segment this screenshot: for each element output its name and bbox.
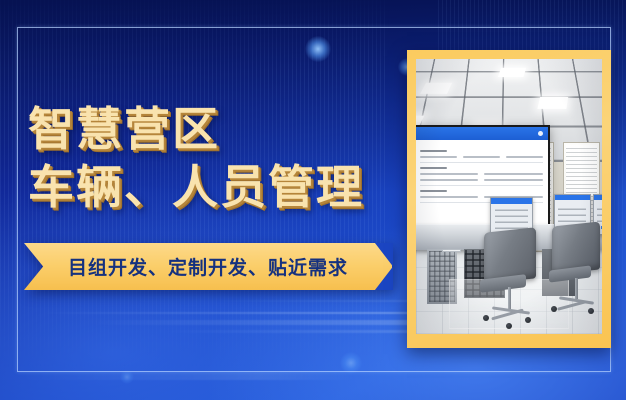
screen-section-title [420, 167, 447, 169]
screen-field [484, 179, 542, 181]
chair-wheel [588, 308, 594, 314]
ribbon-label: 目组开发、定制开发、贴近需求 [24, 243, 392, 290]
screen-field [463, 156, 500, 158]
chair-wheel [506, 323, 512, 329]
screen-form-section [420, 146, 543, 163]
screen-field-row [420, 154, 543, 160]
screen-field [506, 156, 543, 158]
glow-dot-icon [340, 352, 362, 374]
glow-dot-icon [305, 36, 331, 62]
promo-banner: 智慧营区 车辆、人员管理 目组开发、定制开发、贴近需求 [0, 0, 626, 400]
screen-field [484, 173, 542, 175]
ceiling-light-icon [421, 82, 453, 93]
chair-wheel [551, 306, 557, 312]
monitor-content [558, 204, 586, 222]
ceiling-light-icon [537, 96, 568, 108]
keyboard [442, 249, 461, 252]
screen-form-section [420, 163, 543, 186]
screen-section-title [420, 150, 447, 152]
screen-field [420, 156, 457, 158]
photo-card [407, 50, 611, 348]
screen-field [420, 179, 478, 181]
screen-field-row [420, 177, 543, 183]
screen-field [420, 196, 478, 198]
glow-dot-icon [120, 370, 134, 384]
ceiling-light-icon [498, 67, 526, 76]
headline-line-1: 智慧营区 [28, 100, 364, 158]
headline-block: 智慧营区 车辆、人员管理 [28, 100, 364, 217]
chair-post [508, 287, 511, 309]
chair-wheel [525, 317, 531, 323]
office-chair [546, 224, 602, 320]
subtitle-ribbon: 目组开发、定制开发、贴近需求 [24, 243, 392, 290]
chair-base-leg [557, 300, 587, 311]
screen-field [420, 173, 478, 175]
screen-app-header [416, 127, 548, 140]
light-streak [13, 372, 357, 380]
headline-line-2: 车辆、人员管理 [28, 158, 364, 216]
monitor-content [597, 204, 602, 222]
monitor-content [495, 208, 528, 229]
screen-section-title [420, 190, 447, 192]
office-photo [416, 59, 602, 334]
office-chair [479, 230, 542, 329]
chair-post [575, 278, 578, 299]
chair-wheel [483, 315, 489, 321]
